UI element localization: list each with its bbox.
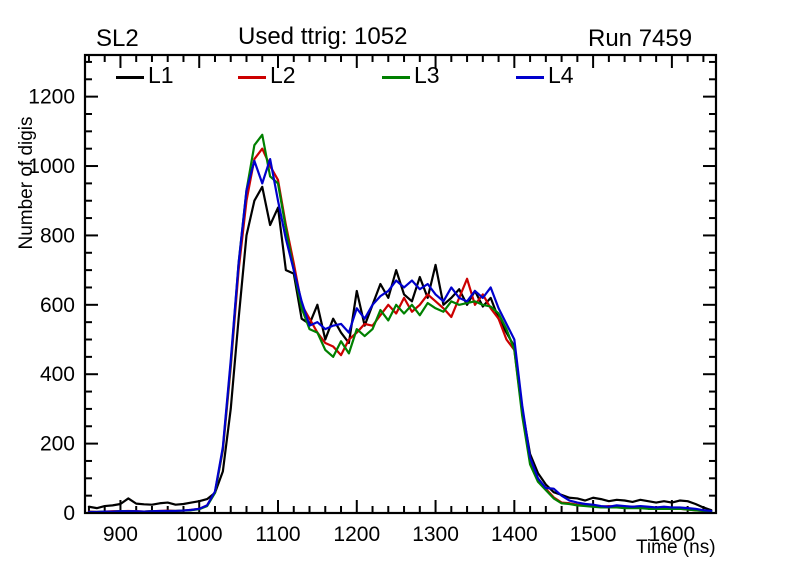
svg-text:1300: 1300 <box>412 523 459 546</box>
svg-text:1200: 1200 <box>28 86 75 109</box>
svg-text:900: 900 <box>103 523 138 546</box>
series-line-l1 <box>89 187 711 510</box>
svg-text:1600: 1600 <box>649 523 696 546</box>
series-layer <box>89 135 711 512</box>
svg-text:600: 600 <box>40 294 75 317</box>
svg-text:1500: 1500 <box>570 523 617 546</box>
series-line-l3 <box>89 135 711 512</box>
svg-text:1100: 1100 <box>255 523 300 546</box>
plot-area: 9001000110012001300140015001600020040060… <box>0 0 796 572</box>
svg-text:1400: 1400 <box>491 523 538 546</box>
svg-text:400: 400 <box>40 363 75 386</box>
series-line-l2 <box>89 149 703 512</box>
chart-page: SL2 Used ttrig: 1052 Run 7459 Number of … <box>0 0 796 572</box>
svg-text:1000: 1000 <box>176 523 223 546</box>
svg-text:1000: 1000 <box>28 155 75 178</box>
svg-text:800: 800 <box>40 224 75 247</box>
axis-layer: 9001000110012001300140015001600020040060… <box>28 55 716 546</box>
svg-text:0: 0 <box>63 502 75 525</box>
svg-text:1200: 1200 <box>333 523 380 546</box>
chart-canvas: 9001000110012001300140015001600020040060… <box>0 0 796 572</box>
svg-text:200: 200 <box>40 433 75 456</box>
series-line-l4 <box>89 159 711 512</box>
